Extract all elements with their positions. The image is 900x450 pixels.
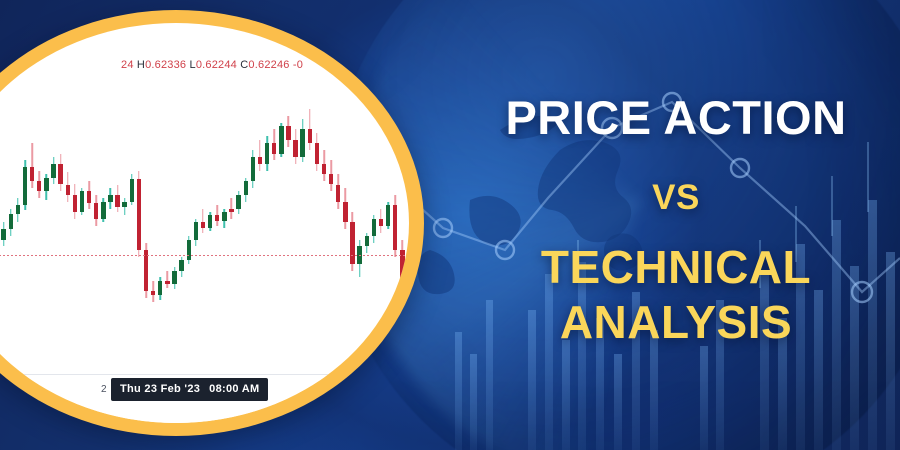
candle (165, 98, 169, 388)
candle-body (279, 126, 283, 154)
candle-body (222, 212, 226, 221)
candle-body (407, 281, 409, 371)
candle-body (350, 222, 354, 263)
candle (300, 98, 304, 388)
headline-block: PRICE ACTION VS TECHNICAL ANALYSIS (452, 0, 900, 450)
headline-price-action: PRICE ACTION (452, 90, 900, 145)
chart-badge-ring: 24 H0.62336 L0.62244 C0.62246 -0 PM 2 Th… (0, 10, 424, 436)
candle-body (101, 202, 105, 219)
candle-body (236, 195, 240, 209)
candle-body (151, 291, 155, 294)
candle (51, 98, 55, 388)
candle (80, 98, 84, 388)
candle-body (393, 205, 397, 250)
headline-technical: TECHNICAL (452, 240, 900, 294)
candle-body (115, 195, 119, 207)
candle (372, 98, 376, 388)
candle-body (16, 205, 20, 214)
candle (1, 98, 5, 388)
candle (279, 98, 283, 388)
candle-wick (31, 143, 33, 188)
headline-analysis: ANALYSIS (452, 295, 900, 349)
candle (258, 98, 262, 388)
candle-wick (167, 271, 169, 288)
ohlc-low-value: 0.62244 (196, 59, 237, 71)
candle (308, 98, 312, 388)
candle (37, 98, 41, 388)
candle-body (30, 167, 34, 181)
candle-body (251, 157, 255, 181)
candle (194, 98, 198, 388)
candle-body (80, 191, 84, 212)
candle (251, 98, 255, 388)
candle-body (37, 181, 41, 191)
candle (73, 98, 77, 388)
candle (244, 98, 248, 388)
candle-body (315, 143, 319, 164)
axis-label-pm: PM (0, 384, 3, 395)
candle-body (272, 143, 276, 153)
ohlc-high-label: H (137, 59, 145, 71)
candle (122, 98, 126, 388)
candle (201, 98, 205, 388)
candle (386, 98, 390, 388)
ohlc-close-value: 0.62246 (248, 59, 289, 71)
candle-body (130, 179, 134, 201)
candle-body (122, 202, 126, 207)
candle-body (329, 174, 333, 184)
candle (365, 98, 369, 388)
candle (16, 98, 20, 388)
candle-body (372, 219, 376, 236)
candle (393, 98, 397, 388)
banner: 24 H0.62336 L0.62244 C0.62246 -0 PM 2 Th… (0, 0, 900, 450)
candle (229, 98, 233, 388)
candle (407, 98, 409, 388)
candle (130, 98, 134, 388)
candle (30, 98, 34, 388)
crosshair-tooltip: Thu 23 Feb '2308:00 AM (111, 378, 268, 401)
candle (172, 98, 176, 388)
candle (272, 98, 276, 388)
candle-body (208, 215, 212, 227)
candle (144, 98, 148, 388)
candle (315, 98, 319, 388)
ohlc-high-value: 0.62336 (145, 59, 186, 71)
candle-body (179, 260, 183, 270)
candle (236, 98, 240, 388)
candle (94, 98, 98, 388)
tooltip-date: Thu 23 Feb '23 (120, 383, 200, 395)
candle-body (44, 178, 48, 192)
price-level-line (0, 255, 409, 256)
candle (137, 98, 141, 388)
candle (286, 98, 290, 388)
candle-body (258, 157, 262, 164)
candle (108, 98, 112, 388)
candle-body (137, 179, 141, 250)
candle (357, 98, 361, 388)
candle (322, 98, 326, 388)
candle-body (300, 129, 304, 157)
candle (379, 98, 383, 388)
candle-body (286, 126, 290, 140)
candle-body (379, 219, 383, 226)
headline-vs: VS (452, 178, 900, 218)
candle-body (94, 203, 98, 218)
candle-body (265, 143, 269, 164)
candle-body (73, 195, 77, 212)
trading-chart[interactable]: 24 H0.62336 L0.62244 C0.62246 -0 PM 2 Th… (0, 23, 409, 423)
candle (44, 98, 48, 388)
candle (158, 98, 162, 388)
candlestick-plot (0, 98, 409, 388)
ohlc-open-value: 24 (121, 59, 134, 71)
candle (87, 98, 91, 388)
axis-tick-partial: 2 (101, 384, 107, 395)
candle-body (229, 209, 233, 212)
candle (215, 98, 219, 388)
candle-body (144, 250, 148, 291)
candle-body (322, 164, 326, 174)
ohlc-ticker: 24 H0.62336 L0.62244 C0.62246 -0 (121, 59, 303, 71)
candle (58, 98, 62, 388)
candle (23, 98, 27, 388)
candle-body (158, 281, 162, 295)
candle (343, 98, 347, 388)
candle-body (244, 181, 248, 195)
candle-body (66, 185, 70, 195)
candle-body (1, 229, 5, 239)
candle-body (386, 205, 390, 226)
candle (329, 98, 333, 388)
candle (293, 98, 297, 388)
candle (115, 98, 119, 388)
candle-body (23, 167, 27, 205)
candle-body (343, 202, 347, 223)
candle-body (172, 271, 176, 285)
candle-body (215, 215, 219, 220)
candle (151, 98, 155, 388)
candle (187, 98, 191, 388)
candle-body (165, 281, 169, 284)
tooltip-time: 08:00 AM (209, 383, 259, 395)
time-axis-line (0, 374, 409, 375)
ohlc-change-value: -0 (293, 59, 303, 71)
candle-body (336, 185, 340, 202)
candle (336, 98, 340, 388)
candle (265, 98, 269, 388)
candle (179, 98, 183, 388)
candle (400, 98, 404, 388)
candle-body (51, 164, 55, 178)
candle-wick (259, 140, 261, 171)
candle-body (58, 164, 62, 185)
candle-body (9, 214, 13, 229)
candle-body (308, 129, 312, 143)
candle (222, 98, 226, 388)
candle (66, 98, 70, 388)
candle-body (201, 222, 205, 227)
candle-body (293, 140, 297, 157)
candle-wick (202, 209, 204, 233)
candle-body (187, 240, 191, 261)
candle-body (365, 236, 369, 246)
candle-body (87, 191, 91, 203)
candle-body (108, 195, 112, 202)
candle-body (194, 222, 198, 239)
candle (9, 98, 13, 388)
candle (208, 98, 212, 388)
candle (350, 98, 354, 388)
candle (101, 98, 105, 388)
